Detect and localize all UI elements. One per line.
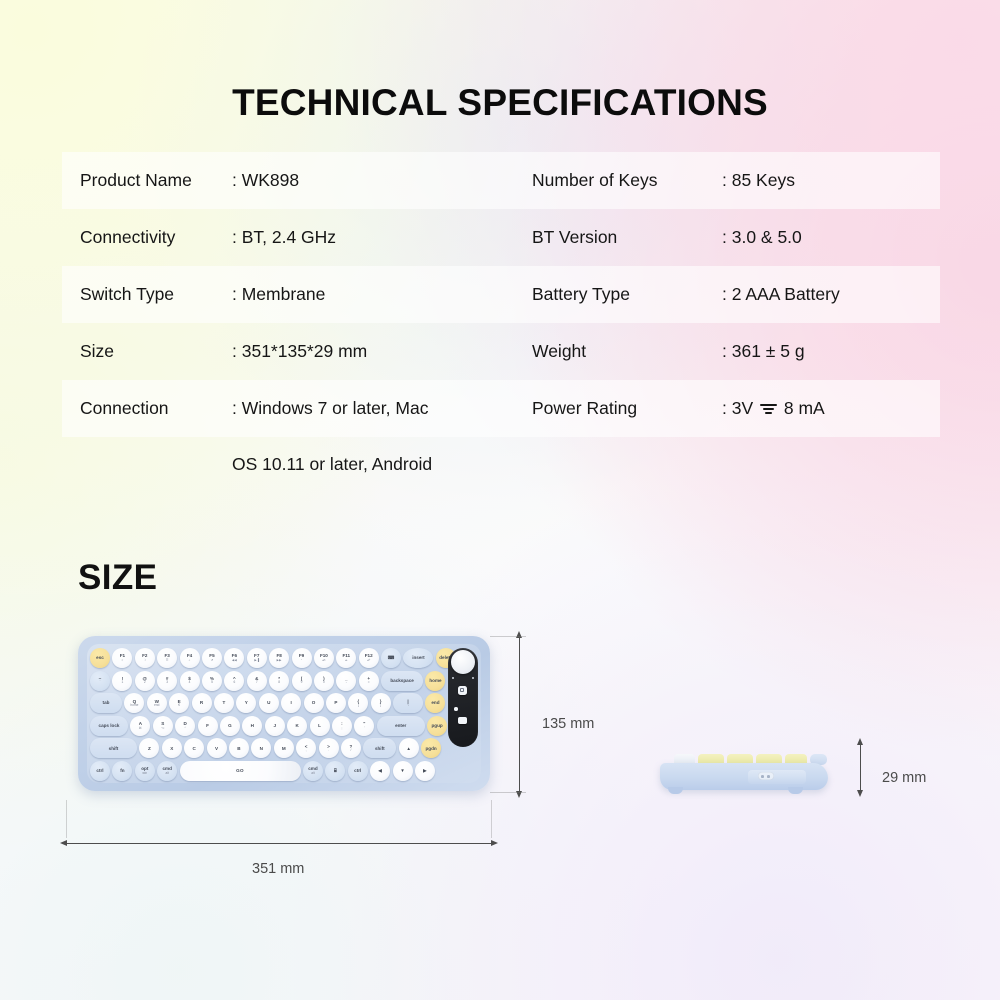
keyboard-key[interactable]: #3: [157, 671, 177, 691]
keyboard-key[interactable]: P: [326, 693, 346, 713]
keyboard-key[interactable]: J: [265, 716, 285, 736]
size-section-heading: SIZE: [78, 558, 157, 598]
arrow-right-icon: [491, 840, 498, 846]
power-rating-suffix: 8 mA: [779, 398, 825, 418]
keyboard-key[interactable]: H: [242, 716, 262, 736]
keyboard-row: tabQhomeWendE€RTYUIOP{[}]|\end: [90, 693, 420, 713]
keyboard-key[interactable]: F7▶▐: [247, 648, 267, 668]
keyboard-key[interactable]: E€: [169, 693, 189, 713]
keyboard-key[interactable]: F8▶▶: [269, 648, 289, 668]
extension-line: [491, 800, 492, 838]
keyboard-key[interactable]: F1☼: [112, 648, 132, 668]
keyboard-key[interactable]: +=: [359, 671, 379, 691]
keyboard-key[interactable]: F5↺: [202, 648, 222, 668]
keyboard-key[interactable]: ctrl: [348, 761, 368, 781]
keyboard-key[interactable]: K: [287, 716, 307, 736]
keyboard-key[interactable]: Wend: [147, 693, 167, 713]
led-indicator: [472, 677, 474, 679]
table-row: Connection : Windows 7 or later, Mac Pow…: [62, 380, 940, 437]
keyboard-key[interactable]: fn: [112, 761, 132, 781]
led-indicator: [452, 677, 454, 679]
keyboard-key[interactable]: cmdalt: [303, 761, 323, 781]
keyboard-key[interactable]: ~`: [90, 671, 110, 691]
keyboard-key[interactable]: F3☰: [157, 648, 177, 668]
keyboard-key[interactable]: M: [274, 738, 294, 758]
keyboard-key[interactable]: ▶: [415, 761, 435, 781]
dimension-height-label: 135 mm: [542, 716, 594, 732]
keyboard-key[interactable]: V: [207, 738, 227, 758]
volume-dial-icon: [451, 650, 475, 674]
keyboard-key[interactable]: S⌥: [153, 716, 173, 736]
keyboard-key[interactable]: GO: [180, 761, 301, 781]
spec-label: Connectivity: [62, 227, 232, 248]
keyboard-key[interactable]: %5: [202, 671, 222, 691]
extension-line: [66, 800, 67, 838]
keyboard-row: escF1☼F2☽F3☰F4⌕F5↺F6◀◀F7▶▐F8▶▶F9ᵔF10◂×F1…: [90, 648, 420, 668]
keyboard-key[interactable]: "': [354, 716, 374, 736]
dimension-depth-label: 29 mm: [882, 770, 926, 786]
table-row: Connectivity : BT, 2.4 GHz BT Version : …: [62, 209, 940, 266]
spec-value: : BT, 2.4 GHz: [232, 227, 532, 248]
keyboard-top-view-image: escF1☼F2☽F3☰F4⌕F5↺F6◀◀F7▶▐F8▶▶F9ᵔF10◂×F1…: [78, 636, 490, 791]
keyboard-plate: escF1☼F2☽F3☰F4⌕F5↺F6◀◀F7▶▐F8▶▶F9ᵔF10◂×F1…: [87, 644, 481, 783]
keyboard-key[interactable]: F6◀◀: [224, 648, 244, 668]
keyboard-key[interactable]: ^6: [224, 671, 244, 691]
spec-value: : 351*135*29 mm: [232, 341, 532, 362]
keyboard-key[interactable]: F10◂×: [314, 648, 334, 668]
spec-value: : 2 AAA Battery: [722, 284, 940, 305]
keyboard-key[interactable]: ▼: [393, 761, 413, 781]
dimension-line: [860, 744, 861, 791]
spec-label: Battery Type: [532, 284, 722, 305]
spec-label: Product Name: [62, 170, 232, 191]
keyboard-key[interactable]: G: [220, 716, 240, 736]
keyboard-key[interactable]: pgdn: [421, 738, 441, 758]
keyboard-key[interactable]: $4: [180, 671, 200, 691]
keyboard-key[interactable]: R: [192, 693, 212, 713]
keyboard-key[interactable]: ⌨: [381, 648, 401, 668]
keyboard-key[interactable]: caps lock: [90, 716, 128, 736]
table-row-continuation: OS 10.11 or later, Android: [62, 437, 940, 491]
keyboard-key[interactable]: shift: [363, 738, 396, 758]
keyboard-row: caps lockA⌘S⌥D⌃FGHJKL:;"'enterpgup: [90, 716, 420, 736]
keyboard-key[interactable]: F9ᵔ: [292, 648, 312, 668]
keyboard-key[interactable]: Y: [236, 693, 256, 713]
screenshot-key-icon: [458, 686, 467, 695]
spec-label: BT Version: [532, 227, 722, 248]
keyboard-key[interactable]: C: [184, 738, 204, 758]
keyboard-key[interactable]: F: [198, 716, 218, 736]
extension-line: [490, 792, 526, 793]
page-title: TECHNICAL SPECIFICATIONS: [0, 82, 1000, 124]
spec-value: : 3.0 & 5.0: [722, 227, 940, 248]
spec-value: : 361 ± 5 g: [722, 341, 940, 362]
keyboard-key[interactable]: ?/: [341, 738, 361, 758]
dimension-line: [66, 843, 492, 844]
keyboard-key[interactable]: &7: [247, 671, 267, 691]
keyboard-key[interactable]: cmdalt: [157, 761, 177, 781]
keyboard-key[interactable]: I: [281, 693, 301, 713]
spec-label: Weight: [532, 341, 722, 362]
keyboard-key[interactable]: {[: [348, 693, 368, 713]
keyboard-key[interactable]: esc: [90, 648, 110, 668]
keyboard-key[interactable]: A⌘: [130, 716, 150, 736]
keyboard-key[interactable]: shift: [90, 738, 137, 758]
keyboard-side-view-image: [660, 740, 828, 792]
table-row: Size : 351*135*29 mm Weight : 361 ± 5 g: [62, 323, 940, 380]
spec-value: : Membrane: [232, 284, 532, 305]
keyboard-key[interactable]: ▲: [399, 738, 419, 758]
keyboard-row: shiftZXCVBNM<,>.?/shift▲pgdn: [90, 738, 420, 758]
power-rating-prefix: : 3V: [722, 398, 758, 418]
dc-power-icon: [760, 402, 777, 416]
arrow-left-icon: [60, 840, 67, 846]
power-switch-icon: [758, 772, 774, 780]
keyboard-key[interactable]: <,: [296, 738, 316, 758]
dimension-width-label: 351 mm: [252, 861, 304, 877]
spec-label: Power Rating: [532, 398, 722, 419]
table-row: Product Name : WK898 Number of Keys : 85…: [62, 152, 940, 209]
spec-label: Connection: [62, 398, 232, 419]
keyboard-key[interactable]: ◀: [370, 761, 390, 781]
keyboard-key[interactable]: Z: [139, 738, 159, 758]
keyboard-foot: [668, 787, 683, 794]
keyboard-key[interactable]: (9: [292, 671, 312, 691]
keyboard-key[interactable]: N: [251, 738, 271, 758]
extension-line: [490, 636, 526, 637]
keyboard-foot: [788, 787, 803, 794]
keyboard-key[interactable]: optwin: [135, 761, 155, 781]
keyboard-key[interactable]: tab: [90, 693, 122, 713]
keyboard-key[interactable]: )0: [314, 671, 334, 691]
keyboard-key[interactable]: *8: [269, 671, 289, 691]
arrow-up-icon: [857, 738, 863, 745]
keyboard-key[interactable]: backspace: [381, 671, 423, 691]
keyboard-key[interactable]: O: [304, 693, 324, 713]
spec-value: : WK898: [232, 170, 532, 191]
technical-specifications-table: Product Name : WK898 Number of Keys : 85…: [62, 152, 940, 491]
keyboard-key[interactable]: T: [214, 693, 234, 713]
keyboard-key[interactable]: !1: [112, 671, 132, 691]
led-indicator: [454, 707, 458, 711]
keyboard-key[interactable]: B: [229, 738, 249, 758]
keyboard-key[interactable]: |\: [393, 693, 423, 713]
keyboard-chassis: [660, 763, 828, 790]
spec-value: : 85 Keys: [722, 170, 940, 191]
keyboard-key[interactable]: end: [425, 693, 445, 713]
keyboard-key[interactable]: pgup: [427, 716, 447, 736]
keyboard-dial-panel: [448, 648, 478, 747]
table-row: Switch Type : Membrane Battery Type : 2 …: [62, 266, 940, 323]
function-key-icon: [458, 717, 467, 724]
keyboard-key[interactable]: home: [425, 671, 445, 691]
dimension-line: [519, 637, 520, 792]
spec-label: Number of Keys: [532, 170, 722, 191]
keyboard-key[interactable]: Qhome: [124, 693, 144, 713]
keyboard-key[interactable]: ctrl: [90, 761, 110, 781]
keyboard-row: ~`!1@2#3$4%5^6&7*8(9)0_-+=backspacehome: [90, 671, 420, 691]
keyboard-row: ctrlfnoptwincmdaltGOcmdalt⌸ctrl◀▼▶: [90, 761, 420, 781]
keyboard-key[interactable]: @2: [135, 671, 155, 691]
keyboard-key[interactable]: ⌸: [325, 761, 345, 781]
keyboard-key[interactable]: U: [259, 693, 279, 713]
keyboard-key[interactable]: insert: [403, 648, 433, 668]
keyboard-key[interactable]: _-: [336, 671, 356, 691]
keyboard-key[interactable]: F4⌕: [180, 648, 200, 668]
spec-label: Size: [62, 341, 232, 362]
spec-value: : Windows 7 or later, Mac: [232, 398, 532, 419]
spec-value: : 3V 8 mA: [722, 398, 940, 419]
keyboard-key[interactable]: X: [162, 738, 182, 758]
arrow-down-icon: [857, 790, 863, 797]
keyboard-key-grid: escF1☼F2☽F3☰F4⌕F5↺F6◀◀F7▶▐F8▶▶F9ᵔF10◂×F1…: [90, 648, 420, 784]
keyboard-key[interactable]: F2☽: [135, 648, 155, 668]
keyboard-key[interactable]: D⌃: [175, 716, 195, 736]
keyboard-key[interactable]: }]: [371, 693, 391, 713]
spec-value-continuation: OS 10.11 or later, Android: [232, 454, 532, 475]
keyboard-key[interactable]: enter: [377, 716, 425, 736]
keyboard-key[interactable]: :;: [332, 716, 352, 736]
keyboard-key[interactable]: F11◂-: [336, 648, 356, 668]
keyboard-key[interactable]: L: [310, 716, 330, 736]
keyboard-key[interactable]: >.: [319, 738, 339, 758]
keyboard-key[interactable]: F12◂+: [359, 648, 379, 668]
spec-label: Switch Type: [62, 284, 232, 305]
